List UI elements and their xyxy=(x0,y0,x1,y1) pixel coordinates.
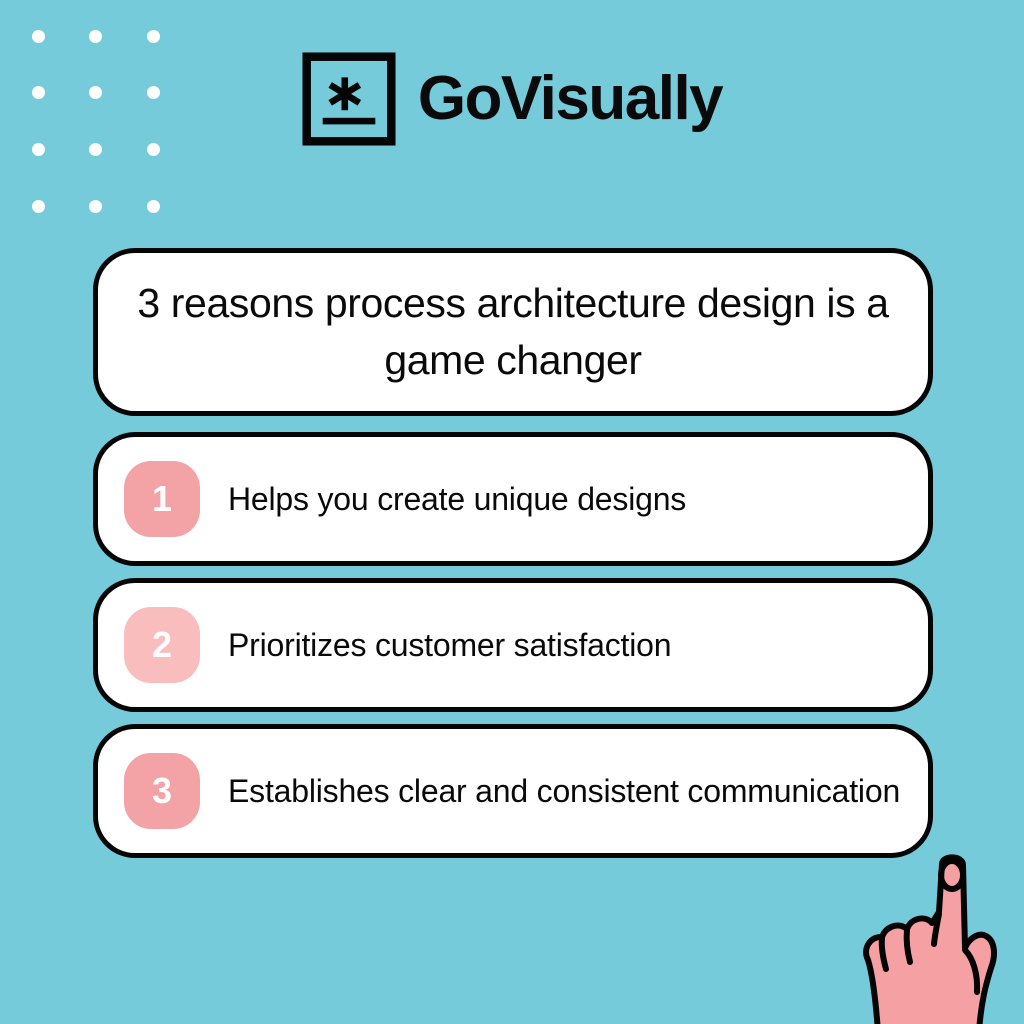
reason-number-badge-1: 1 xyxy=(124,461,200,537)
reason-card-1[interactable]: 1 Helps you create unique designs xyxy=(93,432,933,566)
decorative-dot xyxy=(89,30,102,43)
reason-card-2[interactable]: 2 Prioritizes customer satisfaction xyxy=(93,578,933,712)
reason-label-2: Prioritizes customer satisfaction xyxy=(228,626,671,664)
page-title: 3 reasons process architecture design is… xyxy=(124,275,902,388)
reason-card-3[interactable]: 3 Establishes clear and consistent commu… xyxy=(93,724,933,858)
decorative-dot xyxy=(32,30,45,43)
decorative-dot xyxy=(89,200,102,213)
brand-name: GoVisually xyxy=(418,68,722,130)
reason-number-badge-3: 3 xyxy=(124,753,200,829)
decorative-dot xyxy=(147,30,160,43)
infographic-canvas: GoVisually 3 reasons process architectur… xyxy=(0,0,1024,1024)
title-card: 3 reasons process architecture design is… xyxy=(93,248,933,416)
reason-label-3: Establishes clear and consistent communi… xyxy=(228,772,900,810)
brand-header: GoVisually xyxy=(0,52,1024,146)
decorative-dot xyxy=(32,200,45,213)
reason-number-badge-2: 2 xyxy=(124,607,200,683)
govisually-logo-icon xyxy=(302,52,396,146)
decorative-dot xyxy=(147,200,160,213)
reason-label-1: Helps you create unique designs xyxy=(228,480,686,518)
pointing-hand-icon xyxy=(845,852,1024,1024)
